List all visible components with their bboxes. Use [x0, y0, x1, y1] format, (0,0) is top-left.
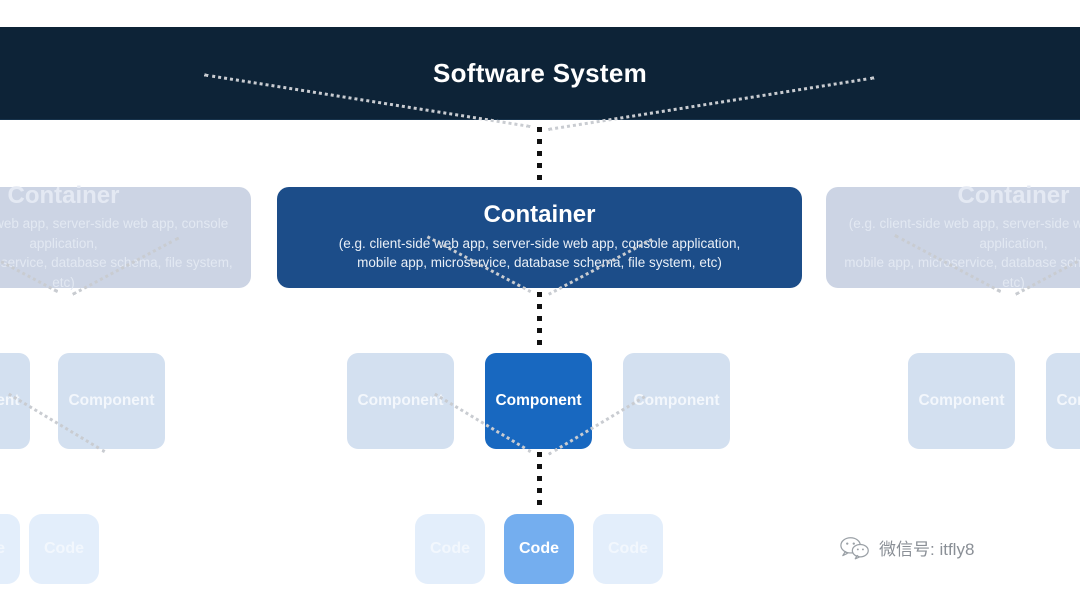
- code-box-center-left[interactable]: Code: [415, 514, 485, 584]
- code-far-left-label: Code: [0, 540, 5, 558]
- code-center-left-label: Code: [430, 540, 470, 558]
- software-system-bar: Software System: [0, 27, 1080, 119]
- connector-container-to-component-center: [537, 292, 542, 352]
- code-box-center[interactable]: Code: [504, 514, 574, 584]
- container-right-subtitle-line1: (e.g. client-side web app, server-side w…: [840, 214, 1080, 253]
- component-center-label: Component: [495, 392, 581, 410]
- code-left-outer-label: Code: [44, 540, 84, 558]
- component-right-outer-label: Component: [918, 392, 1004, 410]
- container-box-left[interactable]: Container (e.g. client-side web app, ser…: [0, 187, 251, 288]
- container-center-subtitle-line1: (e.g. client-side web app, server-side w…: [339, 234, 740, 254]
- connector-component-to-code-center: [537, 452, 542, 510]
- container-center-subtitle-line2: mobile app, microservice, database schem…: [357, 253, 722, 273]
- component-far-right-label: Component: [1056, 392, 1080, 410]
- container-box-center[interactable]: Container (e.g. client-side web app, ser…: [277, 187, 802, 288]
- component-box-far-left-clipped[interactable]: Component: [0, 353, 30, 449]
- container-left-subtitle-line2: mobile app, microservice, database schem…: [0, 253, 237, 292]
- connector-system-to-container-center: [537, 127, 542, 187]
- container-left-title: Container: [7, 183, 119, 209]
- container-box-right[interactable]: Container (e.g. client-side web app, ser…: [826, 187, 1080, 288]
- code-box-center-right[interactable]: Code: [593, 514, 663, 584]
- wechat-id-text: 微信号: itfly8: [879, 535, 974, 560]
- wechat-watermark: 微信号: itfly8: [840, 535, 974, 560]
- component-box-center-left[interactable]: Component: [347, 353, 454, 449]
- container-right-subtitle-line2: mobile app, microservice, database schem…: [840, 253, 1080, 292]
- component-box-far-right-clipped[interactable]: Component: [1046, 353, 1080, 449]
- component-center-right-label: Component: [633, 392, 719, 410]
- code-center-right-label: Code: [608, 540, 648, 558]
- software-system-label: Software System: [433, 58, 647, 89]
- component-box-right-outer[interactable]: Component: [908, 353, 1015, 449]
- code-box-far-left-clipped[interactable]: Code: [0, 514, 20, 584]
- code-box-left-outer[interactable]: Code: [29, 514, 99, 584]
- container-center-title: Container: [483, 202, 595, 228]
- diagram-canvas: Software System Container (e.g. client-s…: [0, 0, 1080, 608]
- wechat-icon: [840, 536, 870, 560]
- container-left-subtitle-line1: (e.g. client-side web app, server-side w…: [0, 214, 237, 253]
- code-center-label: Code: [519, 540, 559, 558]
- container-right-title: Container: [957, 183, 1069, 209]
- component-left-outer-label: Component: [68, 392, 154, 410]
- component-center-left-label: Component: [357, 392, 443, 410]
